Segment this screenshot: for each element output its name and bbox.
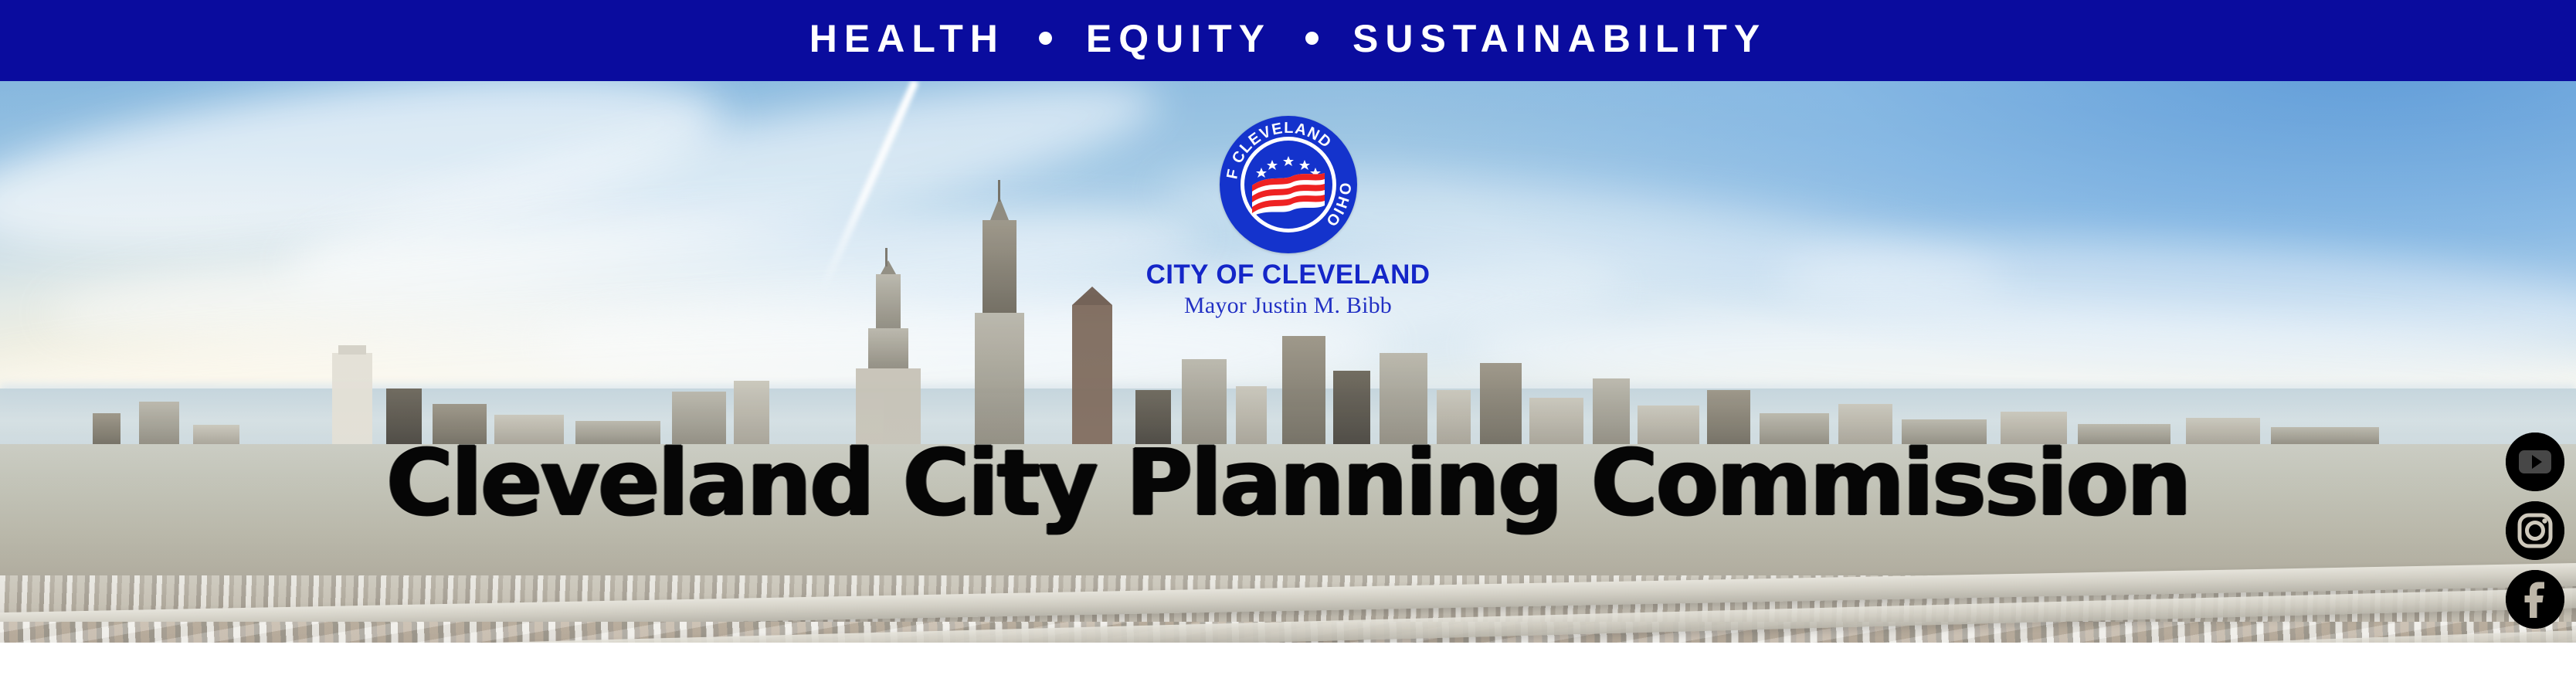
facebook-link[interactable] xyxy=(2506,570,2564,629)
instagram-link[interactable] xyxy=(2506,501,2564,560)
cleveland-city-planning-commission-banner: HEALTH EQUITY SUSTAINABILITY xyxy=(0,0,2576,682)
youtube-icon xyxy=(2506,433,2564,491)
social-links xyxy=(2506,433,2564,629)
tagline-word-health: HEALTH xyxy=(809,19,1005,58)
instagram-icon xyxy=(2506,501,2564,560)
seal-flag-and-stars-icon xyxy=(1244,141,1332,229)
facebook-icon xyxy=(2506,570,2564,629)
footer-strip xyxy=(0,643,2576,682)
tagline-separator-dot-1 xyxy=(1039,32,1052,45)
tagline-word-sustainability: SUSTAINABILITY xyxy=(1352,19,1767,58)
tagline-inner: HEALTH EQUITY SUSTAINABILITY xyxy=(809,19,1767,58)
city-of-cleveland-seal-icon: CITY OF CLEVELAND OHIO xyxy=(1220,116,1357,253)
city-lockup: CITY OF CLEVELAND OHIO xyxy=(0,116,2576,318)
tagline-bar: HEALTH EQUITY SUSTAINABILITY xyxy=(0,0,2576,81)
organization-name: CITY OF CLEVELAND xyxy=(1146,261,1431,290)
tagline-separator-dot-2 xyxy=(1305,32,1319,45)
youtube-link[interactable] xyxy=(2506,433,2564,491)
mayor-name: Mayor Justin M. Bibb xyxy=(1184,293,1392,318)
tagline-word-equity: EQUITY xyxy=(1086,19,1271,58)
page-title: Cleveland City Planning Commission xyxy=(0,437,2576,528)
